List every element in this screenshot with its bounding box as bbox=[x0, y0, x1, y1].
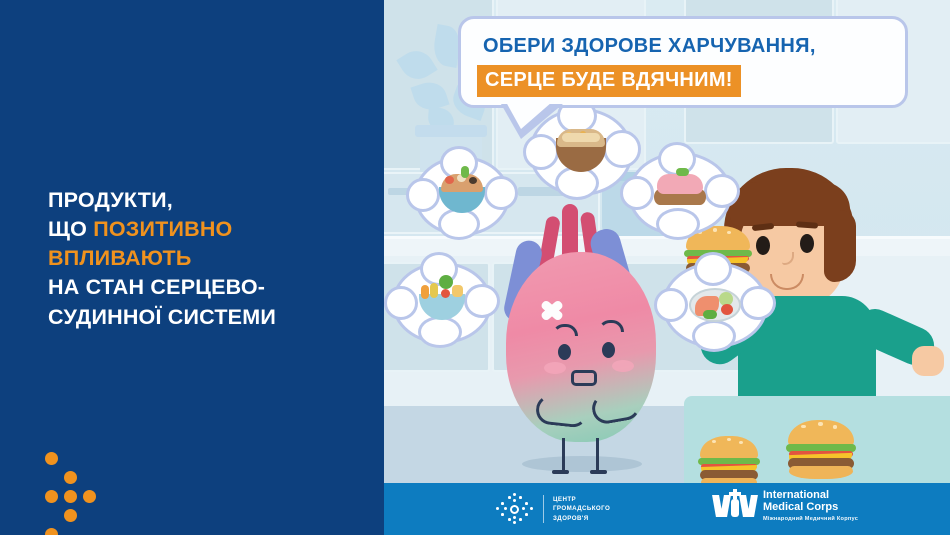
speech-bubble: ОБЕРИ ЗДОРОВЕ ХАРЧУВАННЯ, СЕРЦЕ БУДЕ ВДЯ… bbox=[458, 16, 908, 108]
logo-public-health-center[interactable]: ЦЕНТР ГРОМАДСЬКОГО ЗДОРОВ'Я bbox=[494, 491, 610, 527]
speech-line-1: ОБЕРИ ЗДОРОВЕ ХАРЧУВАННЯ, bbox=[483, 35, 816, 58]
bubble-meat-board bbox=[628, 152, 732, 236]
food-vegetable-bowl bbox=[392, 262, 492, 344]
bubble-salad-bowl bbox=[414, 156, 510, 236]
imc-line-1: International bbox=[763, 489, 858, 501]
imc-line-2: Medical Corps bbox=[763, 501, 858, 513]
headline-line-2-accent: ПОЗИТИВНО bbox=[93, 217, 232, 241]
heart-cheek-left bbox=[544, 362, 566, 374]
bubble-fish-plate bbox=[662, 262, 768, 348]
heart-foot-left bbox=[552, 470, 569, 474]
food-salad-bowl bbox=[414, 156, 510, 236]
food-salmon-plate bbox=[662, 262, 768, 348]
left-title-panel: ПРОДУКТИ, ЩО ПОЗИТИВНО ВПЛИВАЮТЬ НА СТАН… bbox=[0, 0, 384, 535]
speech-line-2: СЕРЦЕ БУДЕ ВДЯЧНИМ! bbox=[477, 65, 741, 97]
infographic-canvas: ПРОДУКТИ, ЩО ПОЗИТИВНО ВПЛИВАЮТЬ НА СТАН… bbox=[0, 0, 950, 535]
headline-line-4: НА СТАН СЕРЦЕВО- bbox=[48, 273, 358, 302]
orange-dot-motif bbox=[45, 452, 125, 532]
logo-divider bbox=[543, 495, 544, 523]
boy-eye-left bbox=[756, 236, 770, 255]
heart-shadow bbox=[522, 456, 642, 472]
heart-character bbox=[496, 200, 666, 480]
bubble-vegetables bbox=[392, 262, 492, 344]
public-health-center-mark-icon bbox=[494, 491, 534, 527]
food-meat-board bbox=[628, 152, 732, 236]
headline-line-2-plain: ЩО bbox=[48, 217, 93, 241]
logo-international-medical-corps[interactable]: International Medical Corps Міжнародний … bbox=[714, 489, 858, 522]
imc-mark-icon bbox=[714, 489, 756, 517]
imc-name: International Medical Corps Міжнародний … bbox=[763, 489, 858, 522]
heart-cheek-right bbox=[612, 360, 634, 372]
cphz-line-3: ЗДОРОВ'Я bbox=[553, 514, 610, 523]
headline-line-5: СУДИННОЇ СИСТЕМИ bbox=[48, 303, 358, 332]
headline-line-2: ЩО ПОЗИТИВНО bbox=[48, 215, 358, 244]
heart-leg-right bbox=[596, 438, 599, 472]
boy-hair-side bbox=[824, 210, 856, 282]
heart-mouth bbox=[571, 370, 597, 386]
cphz-line-1: ЦЕНТР bbox=[553, 495, 610, 504]
bandage-icon bbox=[538, 296, 566, 324]
headline-line-3: ВПЛИВАЮТЬ bbox=[48, 244, 358, 273]
heart-eye-left bbox=[558, 344, 571, 360]
footer-bar: ЦЕНТР ГРОМАДСЬКОГО ЗДОРОВ'Я Internationa… bbox=[384, 483, 950, 535]
imc-subtitle: Міжнародний Медичний Корпус bbox=[763, 516, 858, 522]
headline-line-1: ПРОДУКТИ, bbox=[48, 186, 358, 215]
heart-leg-left bbox=[562, 438, 565, 472]
burger-table-1 bbox=[700, 436, 758, 488]
speech-bubble-tail bbox=[501, 104, 563, 139]
heart-eye-right bbox=[602, 342, 615, 358]
illustration-panel: ОБЕРИ ЗДОРОВЕ ХАРЧУВАННЯ, СЕРЦЕ БУДЕ ВДЯ… bbox=[384, 0, 950, 535]
heart-foot-right bbox=[590, 470, 607, 474]
boy-eye-right bbox=[800, 234, 814, 253]
public-health-center-name: ЦЕНТР ГРОМАДСЬКОГО ЗДОРОВ'Я bbox=[553, 495, 610, 523]
boy-hand-right bbox=[912, 346, 944, 376]
page-title: ПРОДУКТИ, ЩО ПОЗИТИВНО ВПЛИВАЮТЬ НА СТАН… bbox=[48, 186, 358, 332]
burger-table-2 bbox=[788, 420, 854, 478]
cphz-line-2: ГРОМАДСЬКОГО bbox=[553, 504, 610, 513]
